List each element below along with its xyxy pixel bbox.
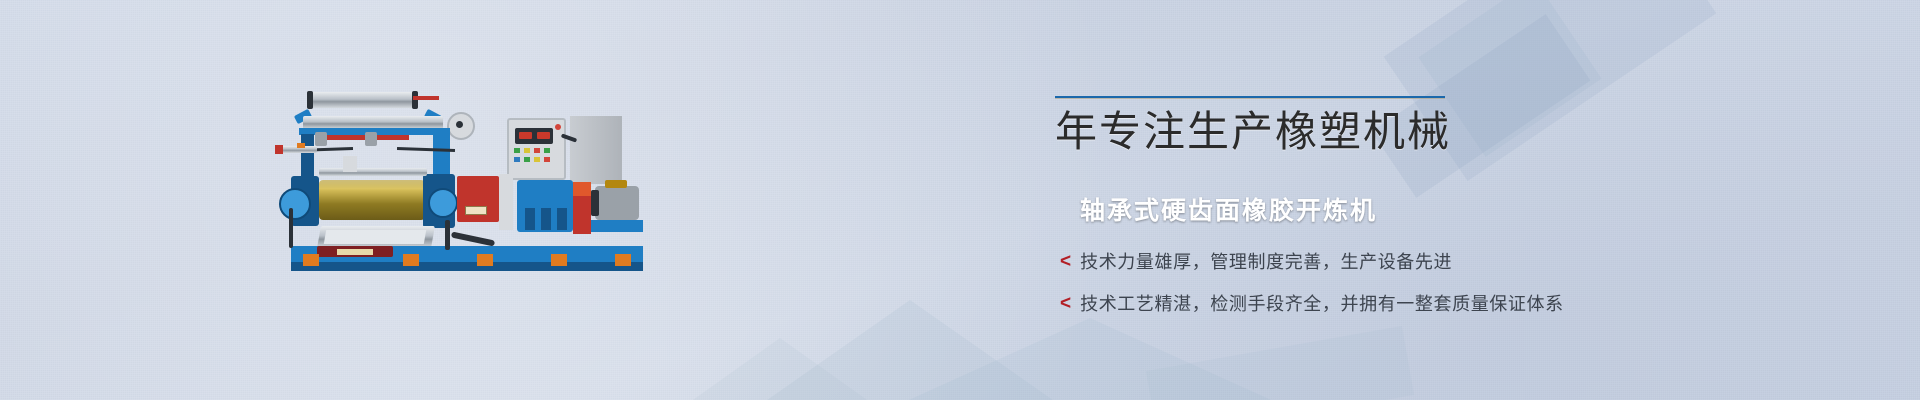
machine-top-roller-cap-right (412, 91, 418, 109)
machine-gearbox-rib-2 (541, 208, 551, 230)
machine-bearing-right (428, 188, 458, 218)
machine-gearbox-rib-3 (557, 208, 567, 230)
copy-block: 年专注生产橡塑机械 (1055, 96, 1675, 156)
chevron-left-icon: < (1060, 294, 1071, 313)
hero-banner: 年专注生产橡塑机械 轴承式硬齿面橡胶开炼机 < 技术力量雄厚，管理制度完善，生产… (0, 0, 1920, 400)
machine-button-7 (534, 157, 540, 162)
page-title: 年专注生产橡塑机械 (1055, 111, 1675, 156)
machine-roller-highlight (319, 180, 425, 190)
machine-top-roller (309, 92, 415, 108)
machine-button-5 (514, 157, 520, 162)
machine-base-plinth (291, 262, 643, 271)
machine-hose-left (289, 208, 293, 248)
machine-foot-4 (551, 254, 567, 266)
machine-guard-post (343, 156, 357, 172)
machine-left-knob (297, 143, 305, 148)
machine-foot-5 (615, 254, 631, 266)
machine-gearbox-rib-1 (525, 208, 535, 230)
machine-left-stop-cap (275, 145, 283, 154)
machine-button-4 (544, 148, 550, 153)
machine-button-2 (524, 148, 530, 153)
machine-motor-base (591, 220, 643, 232)
feature-text: 技术工艺精湛，检测手段齐全，并拥有一整套质量保证体系 (1080, 290, 1564, 316)
machine-top-red-rod (413, 96, 439, 100)
machine-button-8 (544, 157, 550, 162)
machine-foot-3 (477, 254, 493, 266)
machine-guard-bar (319, 168, 427, 176)
list-item: < 技术力量雄厚，管理制度完善，生产设备先进 (1060, 248, 1760, 274)
machine-tie-rod-right (397, 147, 455, 152)
machine-hose-diagonal (451, 231, 495, 246)
machine-upper-clamp-right (365, 132, 377, 146)
machine-upper-clamp-left (315, 132, 327, 146)
feature-list: < 技术力量雄厚，管理制度完善，生产设备先进 < 技术工艺精湛，检测手段齐全，并… (1060, 248, 1760, 332)
machine-box-label (465, 206, 487, 215)
machine-tray-surface (324, 230, 426, 244)
product-title-bar: 轴承式硬齿面橡胶开炼机 (980, 190, 1480, 228)
machine-button-3 (534, 148, 540, 153)
machine-display-readout-2 (537, 132, 550, 139)
decor-triangle-bottom-left (690, 338, 870, 400)
machine-rear-cabinet (570, 116, 622, 184)
chevron-left-icon: < (1060, 252, 1071, 271)
machine-button-6 (524, 157, 530, 162)
machine-foot-2 (403, 254, 419, 266)
machine-top-roller-cap-left (307, 91, 313, 109)
machine-electrical-box (457, 176, 499, 222)
machine-motor-endcap (591, 190, 599, 216)
machine-display-readout (519, 132, 532, 139)
machine-motor-body (595, 186, 639, 220)
machine-button-1 (514, 148, 520, 153)
machine-indicator-light (555, 124, 561, 130)
machine-motor-terminal-box (605, 180, 627, 188)
machine-foot-1 (303, 254, 319, 266)
decor-triangle-bottom-center (760, 300, 1060, 400)
list-item: < 技术工艺精湛，检测手段齐全，并拥有一整套质量保证体系 (1060, 290, 1760, 316)
machine-bearing-left (279, 188, 311, 220)
product-title: 轴承式硬齿面橡胶开炼机 (1080, 191, 1377, 227)
machine-hose-right (445, 220, 450, 250)
machine-box-side (499, 174, 513, 230)
feature-text: 技术力量雄厚，管理制度完善，生产设备先进 (1080, 248, 1452, 274)
machine-fan-hub (456, 121, 463, 128)
machine-base-nameplate (337, 249, 373, 255)
machine-coupling-guard-top (573, 182, 591, 196)
decor-faint-bar-bottom (1146, 326, 1414, 400)
product-photo-rubber-open-mill (285, 88, 645, 270)
headline-rule (1055, 96, 1445, 99)
